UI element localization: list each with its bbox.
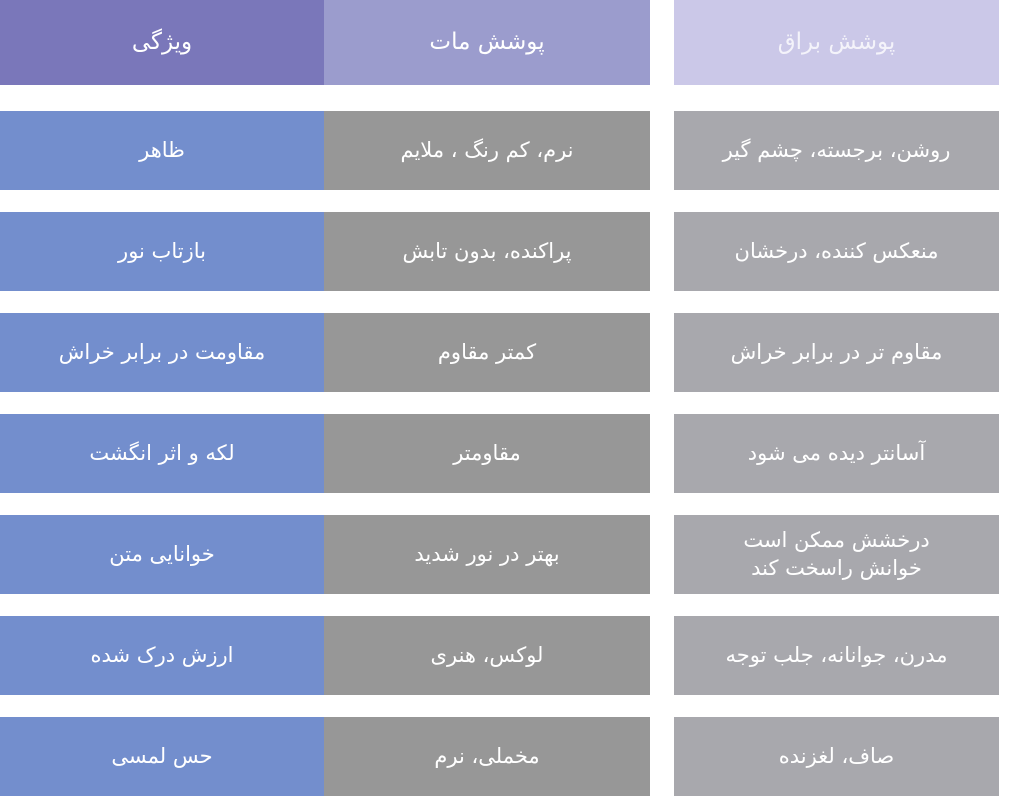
column-header-matte: پوشش مات	[324, 0, 650, 85]
cell-feature: حس لمسی	[0, 717, 324, 796]
cell-feature-text: بازتاب نور	[118, 238, 206, 266]
column-header-gloss-label: پوشش براق	[778, 27, 896, 57]
table-row: منعکس کننده، درخشان پراکنده، بدون تابش ب…	[0, 212, 1024, 291]
column-header-feature: ویژگی	[0, 0, 324, 85]
cell-gloss-text: آسانتر دیده می شود	[748, 440, 925, 468]
cell-matte-text: پراکنده، بدون تابش	[402, 238, 571, 266]
column-header-gloss: پوشش براق	[674, 0, 999, 85]
cell-matte-text: بهتر در نور شدید	[414, 541, 559, 569]
table-row: آسانتر دیده می شود مقاومتر لکه و اثر انگ…	[0, 414, 1024, 493]
cell-gloss-text: مدرن، جوانانه، جلب توجه	[726, 642, 948, 670]
cell-feature: مقاومت در برابر خراش	[0, 313, 324, 392]
cell-matte: پراکنده، بدون تابش	[324, 212, 650, 291]
cell-feature-text: ظاهر	[139, 137, 185, 165]
cell-feature-text: حس لمسی	[111, 743, 212, 771]
cell-gloss: آسانتر دیده می شود	[674, 414, 999, 493]
cell-gloss-text: منعکس کننده، درخشان	[735, 238, 939, 266]
table-row: صاف، لغزنده مخملی، نرم حس لمسی	[0, 717, 1024, 796]
cell-gloss-text: صاف، لغزنده	[779, 743, 894, 771]
cell-matte: مخملی، نرم	[324, 717, 650, 796]
cell-matte: بهتر در نور شدید	[324, 515, 650, 594]
cell-matte-text: مقاومتر	[453, 440, 521, 468]
cell-gloss-text: مقاوم تر در برابر خراش	[731, 339, 943, 367]
cell-gloss: منعکس کننده، درخشان	[674, 212, 999, 291]
cell-matte: کمتر مقاوم	[324, 313, 650, 392]
table-row: روشن، برجسته، چشم گیر نرم، کم رنگ ، ملای…	[0, 111, 1024, 190]
cell-feature: ظاهر	[0, 111, 324, 190]
cell-matte-text: لوکس، هنری	[431, 642, 544, 670]
cell-feature-text: ارزش درک شده	[91, 642, 234, 670]
cell-feature: ارزش درک شده	[0, 616, 324, 695]
cell-feature: خوانایی متن	[0, 515, 324, 594]
cell-gloss: مقاوم تر در برابر خراش	[674, 313, 999, 392]
cell-feature-text: لکه و اثر انگشت	[89, 440, 234, 468]
cell-gloss-text: روشن، برجسته، چشم گیر	[723, 137, 951, 165]
cell-matte: لوکس، هنری	[324, 616, 650, 695]
cell-matte-text: نرم، کم رنگ ، ملایم	[400, 137, 573, 165]
cell-gloss: صاف، لغزنده	[674, 717, 999, 796]
table-row: درخشش ممکن است خوانش راسخت کند بهتر در ن…	[0, 515, 1024, 594]
cell-gloss: روشن، برجسته، چشم گیر	[674, 111, 999, 190]
table-header-row: پوشش براق پوشش مات ویژگی	[0, 0, 1024, 85]
comparison-table: پوشش براق پوشش مات ویژگی روشن، برجسته، چ…	[0, 0, 1024, 794]
table-row: مقاوم تر در برابر خراش کمتر مقاوم مقاومت…	[0, 313, 1024, 392]
cell-matte-text: کمتر مقاوم	[438, 339, 536, 367]
cell-gloss: مدرن، جوانانه، جلب توجه	[674, 616, 999, 695]
cell-matte-text: مخملی، نرم	[434, 743, 539, 771]
cell-matte: مقاومتر	[324, 414, 650, 493]
column-header-feature-label: ویژگی	[132, 27, 192, 57]
cell-matte: نرم، کم رنگ ، ملایم	[324, 111, 650, 190]
cell-feature-text: مقاومت در برابر خراش	[59, 339, 266, 367]
cell-gloss-text: درخشش ممکن است خوانش راسخت کند	[743, 527, 929, 582]
column-header-matte-label: پوشش مات	[429, 27, 544, 57]
cell-feature: لکه و اثر انگشت	[0, 414, 324, 493]
cell-feature: بازتاب نور	[0, 212, 324, 291]
table-row: مدرن، جوانانه، جلب توجه لوکس، هنری ارزش …	[0, 616, 1024, 695]
cell-feature-text: خوانایی متن	[109, 541, 215, 569]
cell-gloss: درخشش ممکن است خوانش راسخت کند	[674, 515, 999, 594]
